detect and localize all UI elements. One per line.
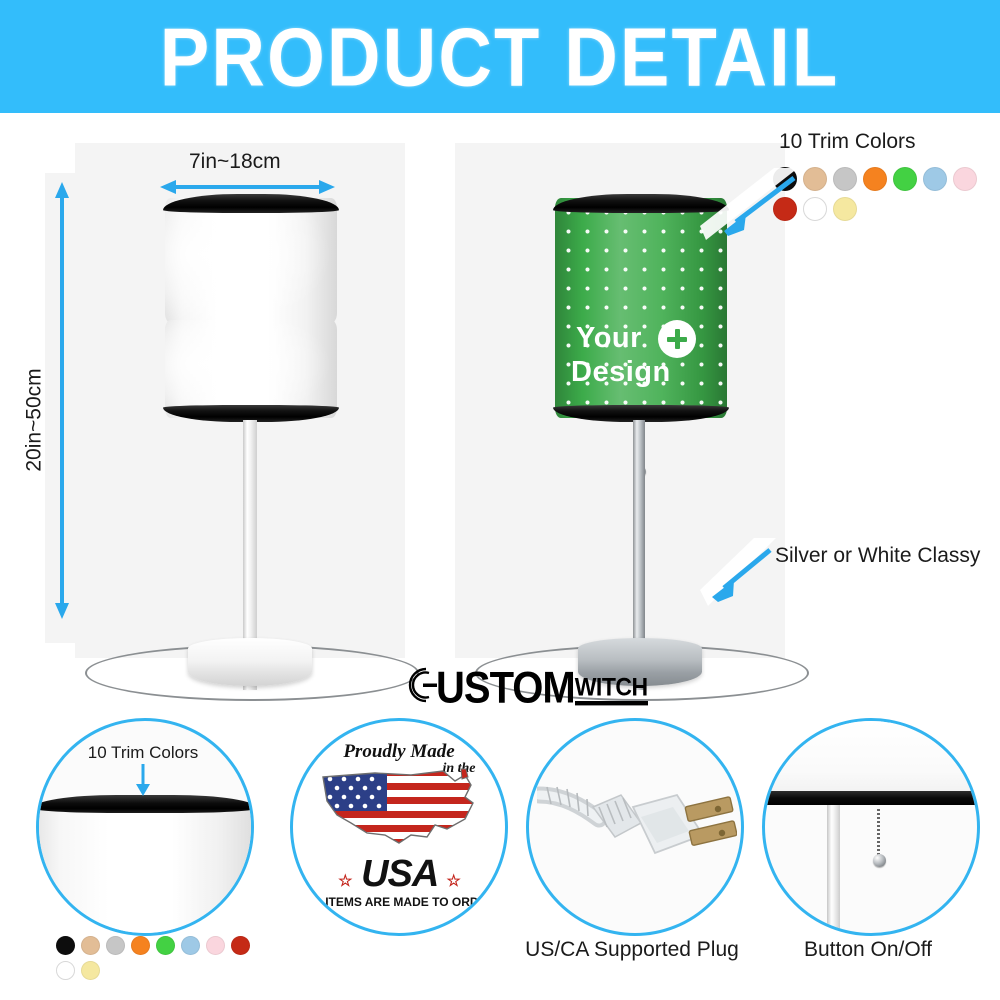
swatch-green[interactable] — [893, 167, 917, 191]
feature-made-in-usa: Proudly Made in the — [290, 718, 510, 1000]
swatch-gray[interactable] — [106, 936, 125, 955]
lamp-white-blank — [160, 198, 340, 658]
height-dimension-label: 20in~50cm — [23, 368, 47, 471]
height-dimension-arrow — [52, 182, 72, 619]
switch-closeup-shade — [762, 721, 980, 793]
trim-callout-arrow — [700, 168, 805, 240]
switch-closeup-trim — [762, 791, 980, 805]
swatch-yellow[interactable] — [833, 197, 857, 221]
swatch-black[interactable] — [56, 936, 75, 955]
swatch-light-blue[interactable] — [923, 167, 947, 191]
swatch-red[interactable] — [231, 936, 250, 955]
feature-plug-caption: US/CA Supported Plug — [512, 938, 752, 962]
usa-big-text: ☆ USA ☆ — [293, 853, 505, 896]
feature-trim-colors: 10 Trim Colors — [36, 718, 256, 1000]
brand-logo: USTOM WITCH — [396, 663, 648, 707]
plus-bar-v — [675, 329, 680, 349]
lamp-shade-surface — [165, 198, 337, 323]
swatch-pink[interactable] — [953, 167, 977, 191]
usa-star-left-icon: ☆ — [338, 873, 351, 890]
feature-plug: US/CA Supported Plug — [512, 718, 752, 1000]
swatch-green[interactable] — [156, 936, 175, 955]
width-dimension-label: 7in~18cm — [189, 150, 281, 174]
shade-closeup-body — [36, 805, 254, 936]
switch-pull-chain[interactable] — [877, 809, 880, 857]
swatch-pink[interactable] — [206, 936, 225, 955]
trim-colors-swatch-row-top[interactable] — [773, 167, 1000, 227]
usa-map-flag-icon — [315, 763, 483, 849]
feature-row: 10 Trim Colors Proudly Made in the — [0, 718, 1000, 1000]
logo-sub-text: WITCH — [575, 675, 648, 706]
feature-switch: Button On/Off — [762, 718, 972, 1000]
feature-trim-caption: 10 Trim Colors — [58, 743, 228, 763]
trim-colors-label-top: 10 Trim Colors — [779, 130, 916, 154]
lamp-shade-white — [165, 198, 337, 323]
base-callout-arrow — [700, 538, 780, 608]
swatch-white[interactable] — [56, 961, 75, 980]
trim-colors-swatch-row-bottom[interactable] — [56, 936, 261, 986]
shade-closeup-trim — [36, 795, 254, 813]
power-plug-icon — [537, 773, 737, 893]
main-stage: 10 Trim Colors 7in~18cm 20in~50cm — [0, 113, 1000, 658]
page-title: PRODUCT DETAIL — [160, 15, 840, 98]
base-finish-label: Silver or White Classy — [775, 544, 980, 568]
plus-icon[interactable] — [658, 320, 696, 358]
swatch-yellow[interactable] — [81, 961, 100, 980]
usa-script-line1: Proudly Made — [293, 741, 508, 763]
feature-switch-caption: Button On/Off — [762, 938, 974, 962]
feature-circle-usa: Proudly Made in the — [290, 718, 508, 936]
logo-c-mark-icon — [396, 663, 440, 707]
swatch-gray[interactable] — [833, 167, 857, 191]
usa-big-label: USA — [361, 853, 437, 895]
feature-circle-plug — [526, 718, 744, 936]
swatch-orange[interactable] — [131, 936, 150, 955]
usa-badge: Proudly Made in the — [293, 721, 505, 933]
lamp-base-white — [188, 638, 312, 686]
usa-star-right-icon: ☆ — [446, 873, 459, 890]
switch-closeup-pole — [827, 805, 840, 936]
swatch-orange[interactable] — [863, 167, 887, 191]
design-text-line2: Design — [571, 358, 671, 388]
logo-main-text: USTOM — [436, 667, 575, 710]
page-header-banner: PRODUCT DETAIL — [0, 0, 1000, 113]
lamp-trim-top — [163, 194, 339, 213]
feature-circle-switch — [762, 718, 980, 936]
swatch-white[interactable] — [803, 197, 827, 221]
trim-down-arrow — [134, 764, 152, 796]
swatch-tan[interactable] — [803, 167, 827, 191]
lamp-shade-surface-lower — [165, 320, 337, 418]
swatch-tan[interactable] — [81, 936, 100, 955]
usa-small-text: ALL ITEMS ARE MADE TO ORDER! — [293, 895, 505, 909]
lamp-shade-white-lower — [165, 320, 337, 418]
logo-c-icon-svg — [396, 663, 440, 707]
design-text-line1: Your — [576, 324, 642, 354]
switch-pull-chain-ball[interactable] — [873, 854, 886, 867]
product-detail-page: PRODUCT DETAIL 10 Trim Colors 7in~18cm 2… — [0, 0, 1000, 1000]
swatch-light-blue[interactable] — [181, 936, 200, 955]
